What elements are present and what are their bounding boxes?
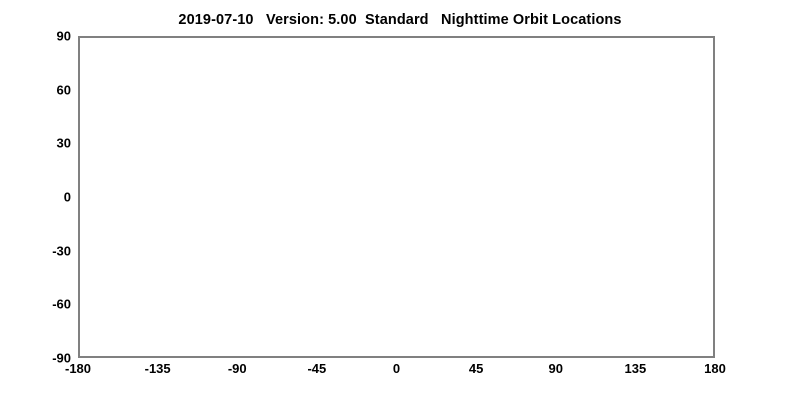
- x-tick-180: 180: [704, 362, 726, 375]
- x-tick-135: 135: [625, 362, 647, 375]
- plot-area: 9060300-30-60-90 -180-135-90-45045901351…: [78, 36, 715, 358]
- x-tick-0: 0: [393, 362, 400, 375]
- x-tick--180: -180: [65, 362, 91, 375]
- x-tick--45: -45: [307, 362, 326, 375]
- y-tick-60: 60: [57, 83, 71, 96]
- x-tick-45: 45: [469, 362, 483, 375]
- y-tick--30: -30: [52, 244, 71, 257]
- y-tick-90: 90: [57, 30, 71, 43]
- y-tick-0: 0: [64, 191, 71, 204]
- x-tick--135: -135: [145, 362, 171, 375]
- x-tick--90: -90: [228, 362, 247, 375]
- y-tick-30: 30: [57, 137, 71, 150]
- plot-frame: [78, 36, 715, 358]
- chart-title: 2019-07-10 Version: 5.00 Standard Nightt…: [0, 12, 800, 28]
- x-tick-90: 90: [549, 362, 563, 375]
- y-tick--60: -60: [52, 298, 71, 311]
